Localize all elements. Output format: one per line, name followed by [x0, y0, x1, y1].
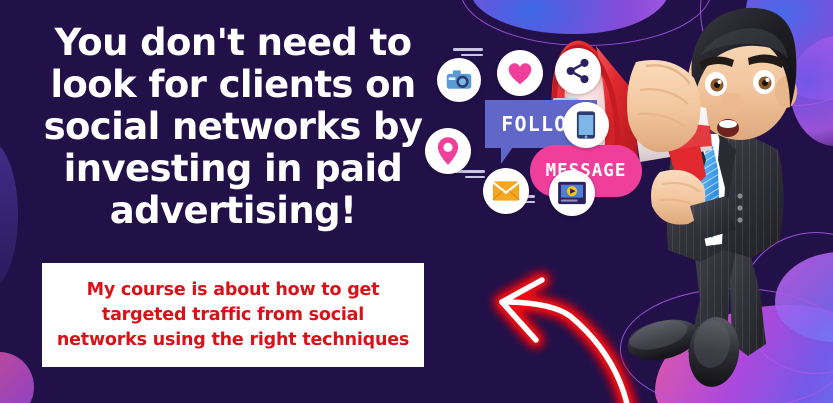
- course-description-line-3: networks using the right techniques: [57, 328, 409, 353]
- phone-icon: [576, 110, 596, 140]
- promo-banner: You don't need to look for clients on so…: [0, 0, 833, 403]
- camera-icon-badge[interactable]: [437, 58, 481, 102]
- arrow-glow: [502, 280, 628, 403]
- motion-lines-left: [455, 170, 485, 178]
- course-description-line-1: My course is about how to get: [57, 278, 409, 303]
- share-icon-badge[interactable]: [555, 48, 601, 94]
- course-description-line-2: targeted traffic from social: [57, 303, 409, 328]
- course-description-box: My course is about how to get targeted t…: [42, 263, 424, 367]
- location-pin-icon-badge[interactable]: [425, 128, 471, 174]
- location-pin-icon: [437, 136, 459, 166]
- video-player-icon: [557, 181, 587, 205]
- course-description-text: My course is about how to get targeted t…: [57, 278, 409, 353]
- envelope-icon-badge[interactable]: [483, 168, 529, 214]
- envelope-icon: [492, 180, 520, 202]
- curved-arrow-svg: [440, 258, 655, 403]
- social-icon-cluster: FOLLOW MESSAGE: [425, 40, 625, 225]
- video-player-icon-badge[interactable]: [549, 170, 595, 216]
- heart-icon: [506, 60, 534, 86]
- phone-icon-badge[interactable]: [563, 102, 609, 148]
- heart-icon-badge[interactable]: [497, 50, 543, 96]
- camera-icon: [445, 66, 473, 94]
- motion-lines-top: [453, 48, 483, 56]
- curved-arrow: [440, 258, 655, 403]
- share-icon: [565, 58, 591, 84]
